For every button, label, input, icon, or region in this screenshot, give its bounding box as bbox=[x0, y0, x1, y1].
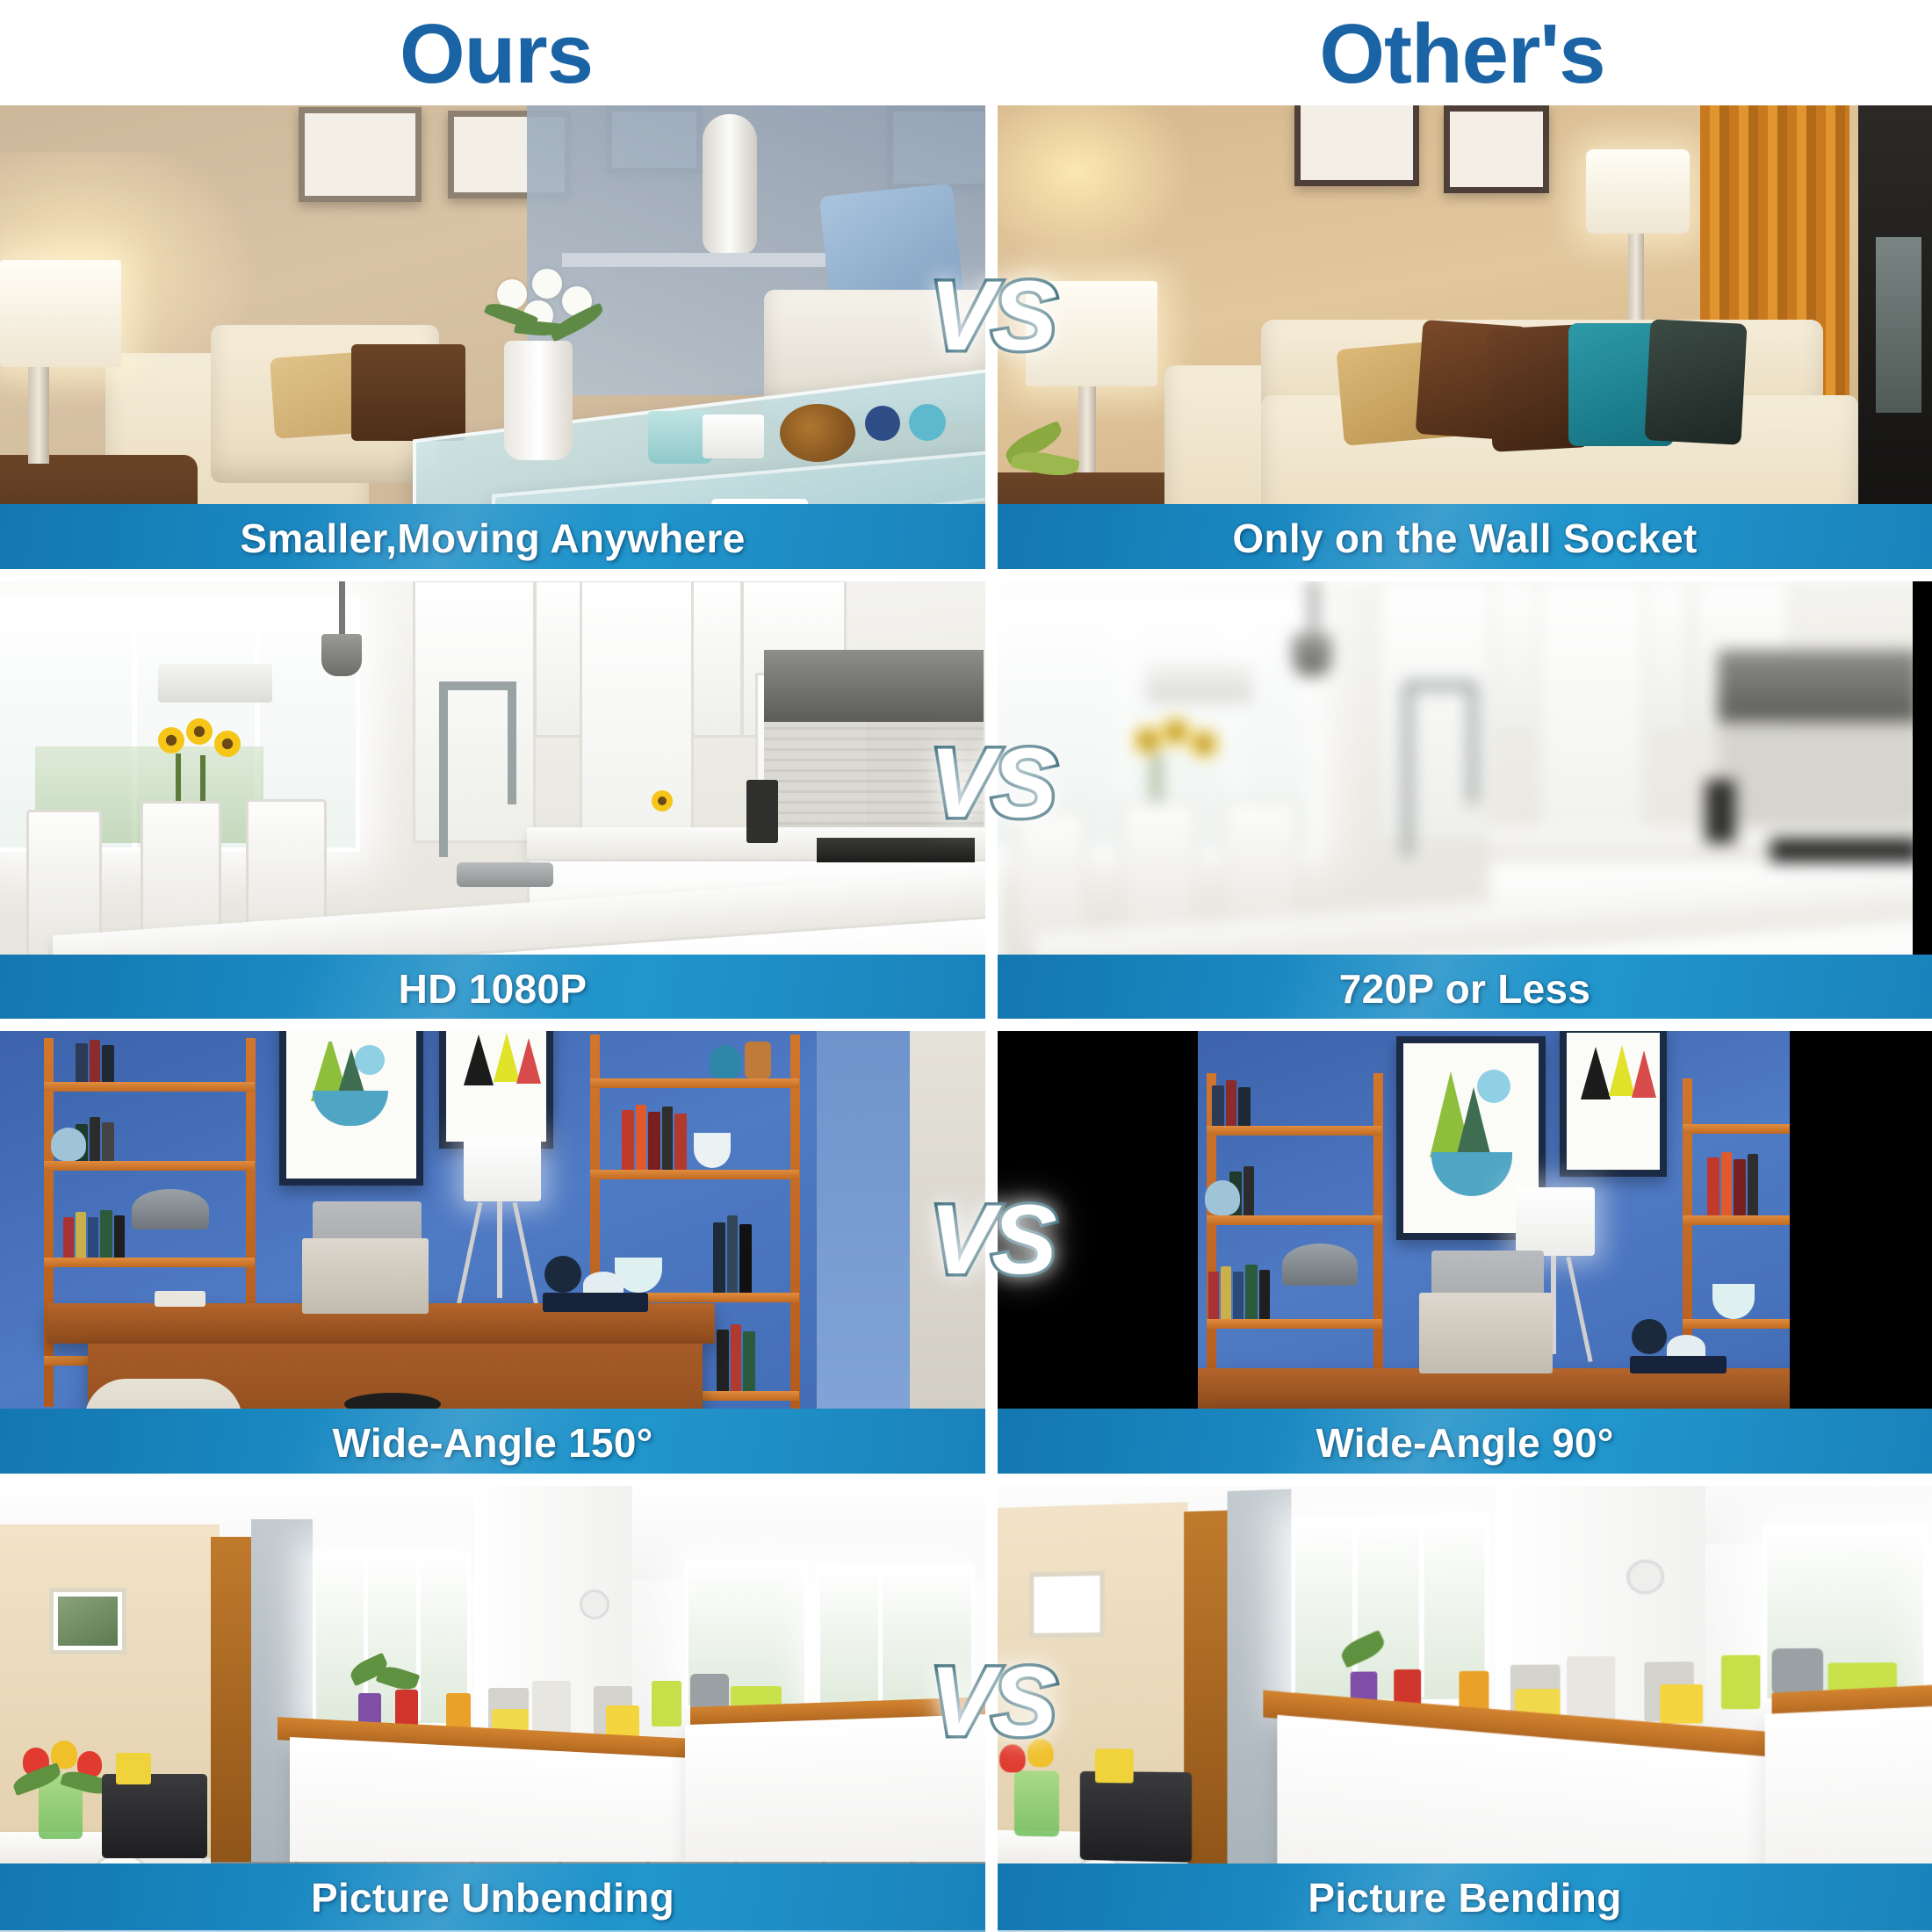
caption-ours-portability: Smaller,Moving Anywhere bbox=[0, 504, 985, 573]
panel-others-portability: Only on the Wall Socket bbox=[998, 105, 1932, 573]
caption-others-portability: Only on the Wall Socket bbox=[998, 504, 1932, 573]
panel-ours-resolution: HD 1080P bbox=[0, 580, 985, 1023]
comparison-row-distortion: Picture Unbending bbox=[0, 1484, 1932, 1932]
header-title-ours: Ours bbox=[0, 5, 992, 104]
caption-others-fov: Wide-Angle 90° bbox=[998, 1409, 1932, 1477]
comparison-row-portability: Smaller,Moving Anywhere bbox=[0, 105, 1932, 573]
panel-others-resolution: 720P or Less bbox=[998, 580, 1932, 1023]
caption-ours-distortion: Picture Unbending bbox=[0, 1864, 985, 1932]
comparison-row-field-of-view: Wide-Angle 150° bbox=[0, 1029, 1932, 1477]
row-divider-3 bbox=[0, 1474, 1932, 1486]
row-divider-2 bbox=[0, 1019, 1932, 1031]
caption-text: Picture Bending bbox=[1308, 1874, 1621, 1921]
panel-ours-distortion: Picture Unbending bbox=[0, 1484, 985, 1932]
caption-text: Smaller,Moving Anywhere bbox=[240, 515, 745, 562]
vs-badge: VS bbox=[929, 1191, 1053, 1289]
photo-living-room-wide bbox=[0, 105, 985, 573]
caption-text: Only on the Wall Socket bbox=[1232, 515, 1697, 562]
panel-ours-fov: Wide-Angle 150° bbox=[0, 1029, 985, 1477]
caption-others-resolution: 720P or Less bbox=[998, 955, 1932, 1023]
panel-others-distortion: Picture Bending bbox=[998, 1484, 1932, 1932]
comparison-infographic: Ours Other's bbox=[0, 0, 1932, 1932]
row-divider-1 bbox=[0, 569, 1932, 581]
caption-text: Wide-Angle 90° bbox=[1316, 1419, 1613, 1467]
photo-living-room-sofa bbox=[998, 105, 1932, 573]
panel-ours-portability: Smaller,Moving Anywhere bbox=[0, 105, 985, 573]
caption-ours-resolution: HD 1080P bbox=[0, 955, 985, 1023]
comparison-row-resolution: HD 1080P bbox=[0, 580, 1932, 1023]
header-title-others: Other's bbox=[992, 5, 1932, 104]
panel-others-fov: Wide-Angle 90° bbox=[998, 1029, 1932, 1477]
caption-text: Picture Unbending bbox=[311, 1874, 674, 1921]
vs-badge: VS bbox=[929, 1653, 1053, 1751]
header-bar: Ours Other's bbox=[0, 0, 1932, 105]
caption-text: Wide-Angle 150° bbox=[333, 1419, 653, 1467]
caption-others-distortion: Picture Bending bbox=[998, 1864, 1932, 1932]
vs-badge: VS bbox=[929, 734, 1053, 833]
vs-badge: VS bbox=[929, 267, 1053, 365]
caption-text: HD 1080P bbox=[399, 965, 588, 1013]
caption-text: 720P or Less bbox=[1339, 965, 1591, 1013]
caption-ours-fov: Wide-Angle 150° bbox=[0, 1409, 985, 1477]
